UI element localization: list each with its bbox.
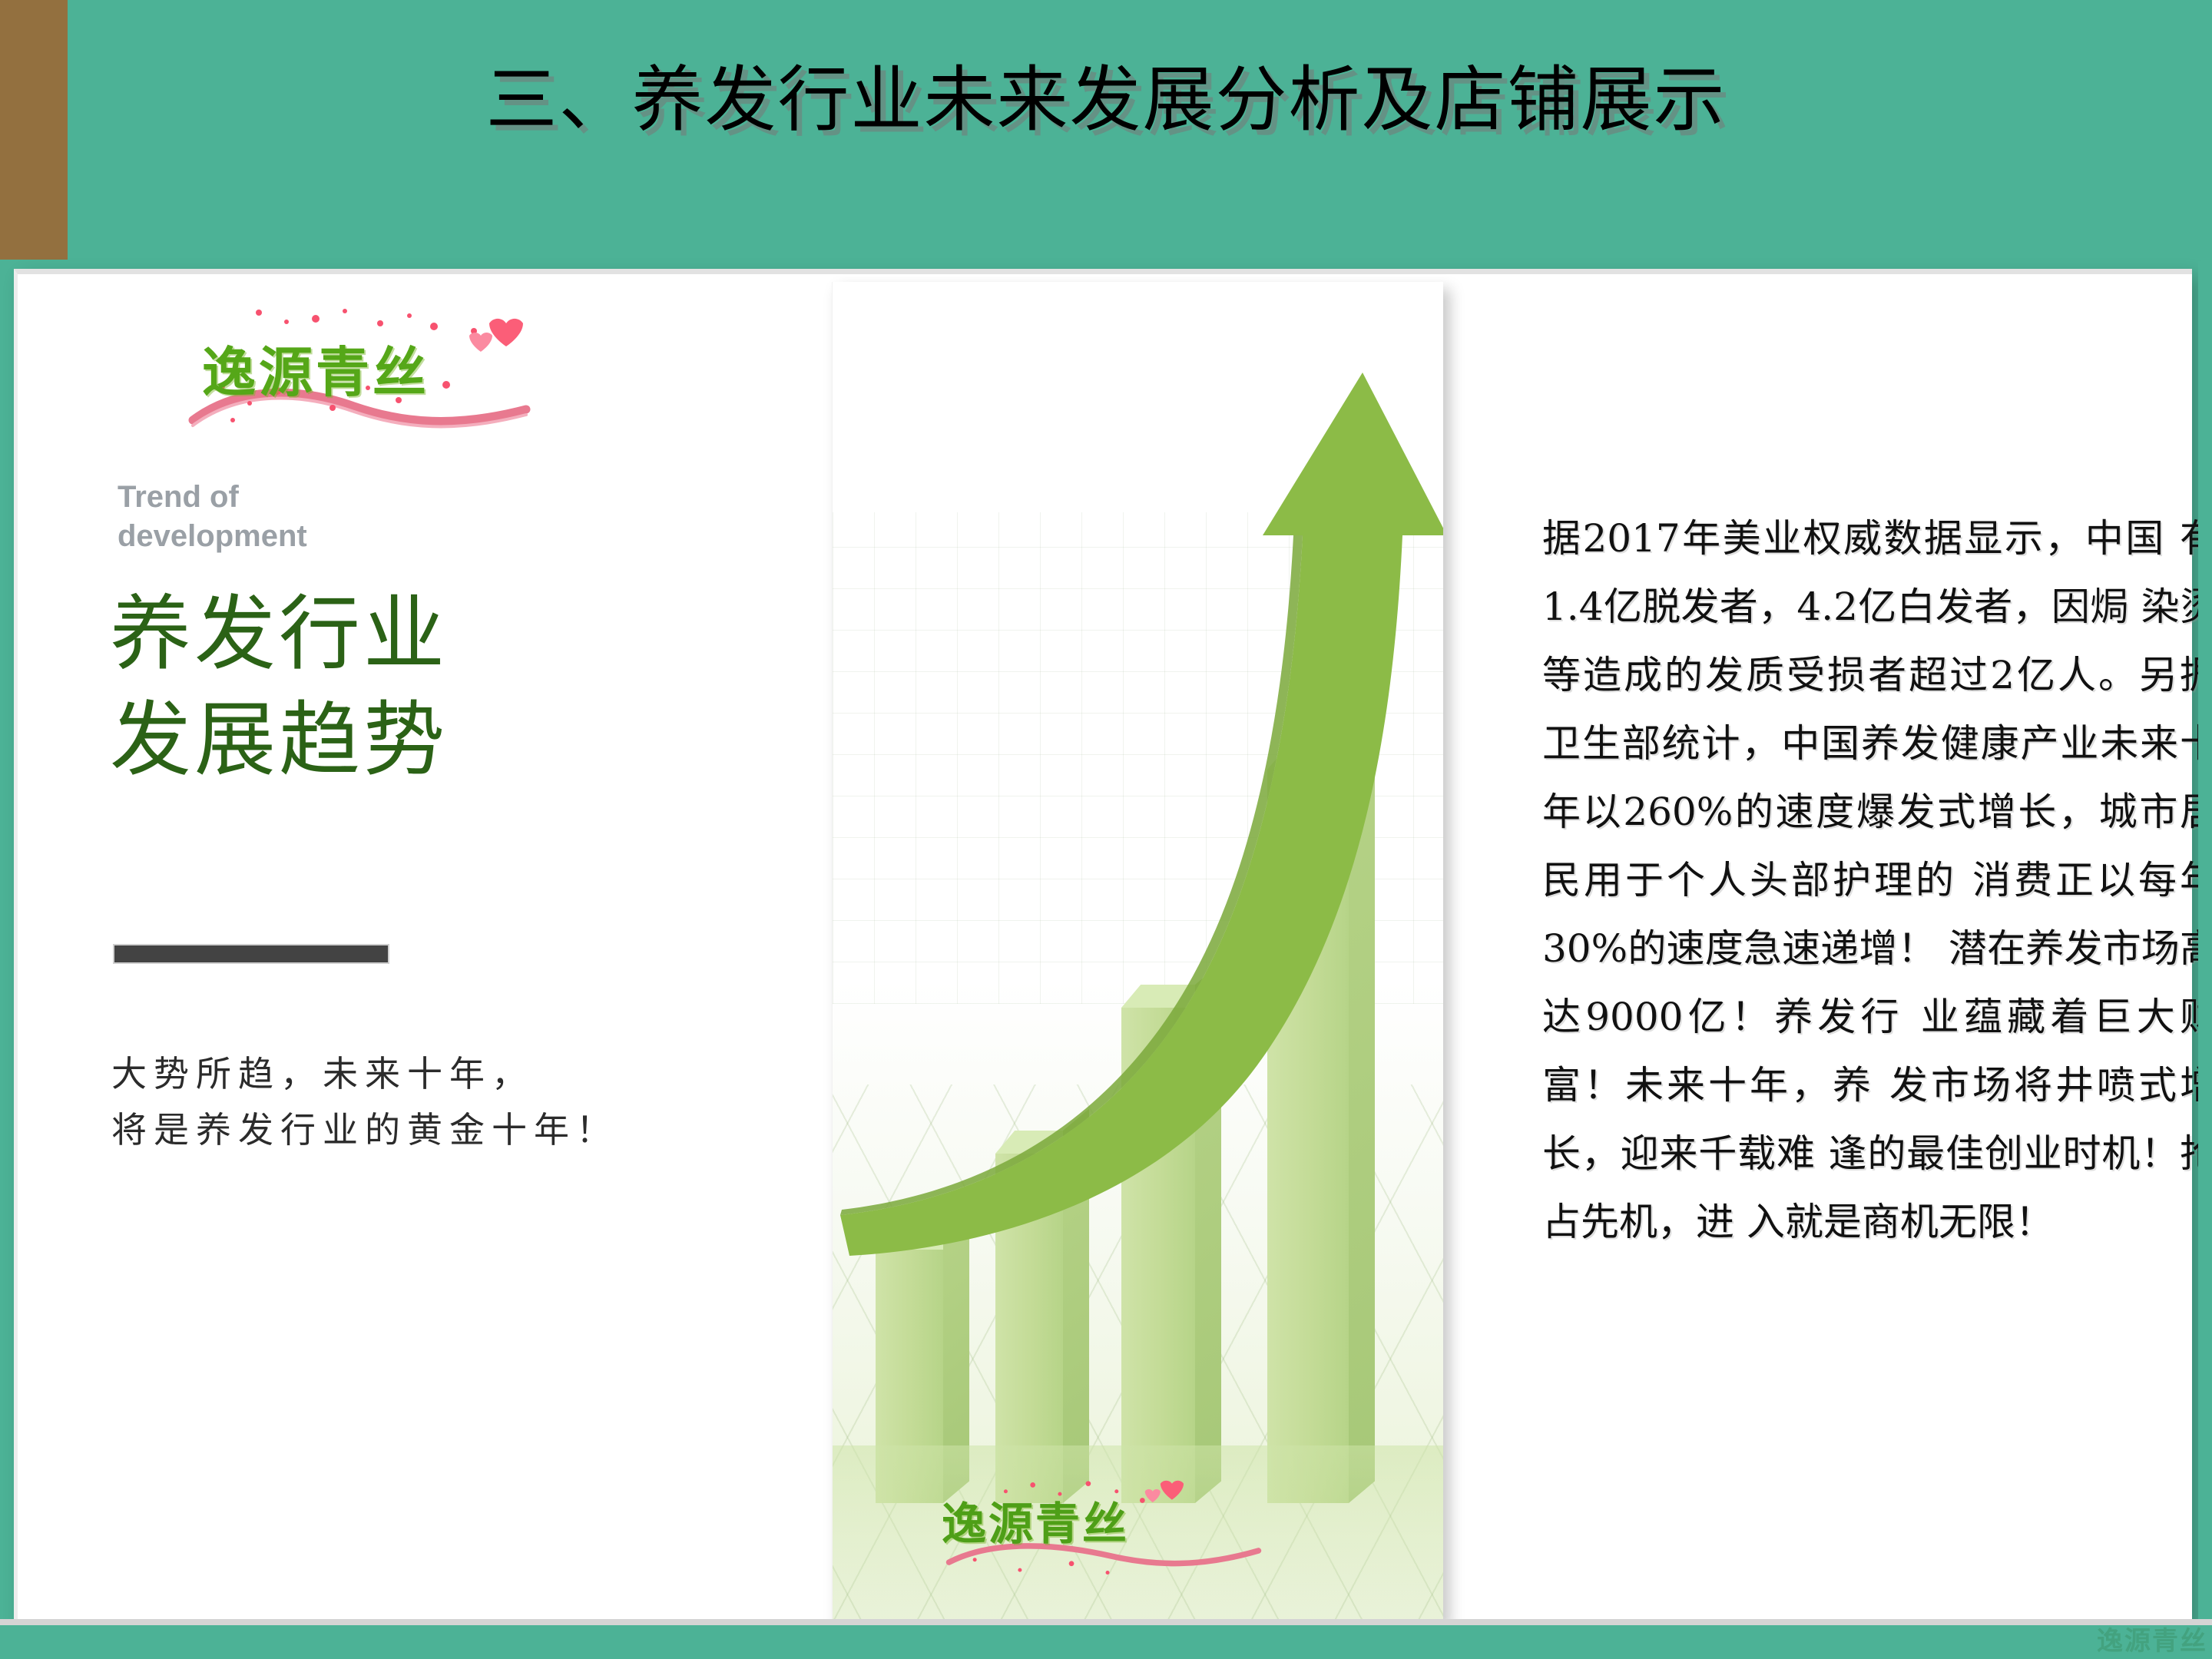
watermark-text: 逸源青丝: [2097, 1620, 2207, 1657]
footer-band: 逸源青丝: [0, 1625, 2212, 1659]
left-column: 逸源青丝 Trend of development 养发行业 发展趋势 大势所趋…: [94, 290, 770, 1595]
brand-logo: 逸源青丝: [179, 305, 540, 451]
slide-root: 三、养发行业未来发展分析及店铺展示: [0, 0, 2212, 1659]
right-teal-edge: [2198, 261, 2212, 1628]
section-heading-line1: 养发行业: [110, 581, 694, 687]
tagline-line2: 将是养发行业的黄金十年！: [111, 1102, 726, 1158]
photo-brand-logo: 逸源青丝: [923, 1455, 1353, 1590]
growth-arrow-icon: [833, 282, 1443, 1622]
tagline-line1: 大势所趋，未来十年，: [111, 1046, 726, 1102]
section-heading-line2: 发展趋势: [110, 687, 694, 793]
page-title: 三、养发行业未来发展分析及店铺展示: [0, 65, 2212, 136]
growth-chart-image: 逸源青丝: [832, 282, 1443, 1622]
body-paragraph: 据2017年美业权威数据显示，中国 有1.4亿脱发者，4.2亿白发者，因焗 染烫…: [1542, 505, 2212, 1257]
photo-brand-logo-text: 逸源青丝: [942, 1488, 1129, 1552]
english-subtitle: Trend of development: [118, 478, 425, 556]
tagline: 大势所趋，未来十年， 将是养发行业的黄金十年！: [111, 1046, 726, 1157]
divider-bar: [113, 944, 389, 964]
section-heading: 养发行业 发展趋势: [110, 581, 694, 793]
brand-logo-text: 逸源青丝: [202, 329, 429, 407]
content-card: 逸源青丝 Trend of development 养发行业 发展趋势 大势所趋…: [14, 269, 2192, 1625]
